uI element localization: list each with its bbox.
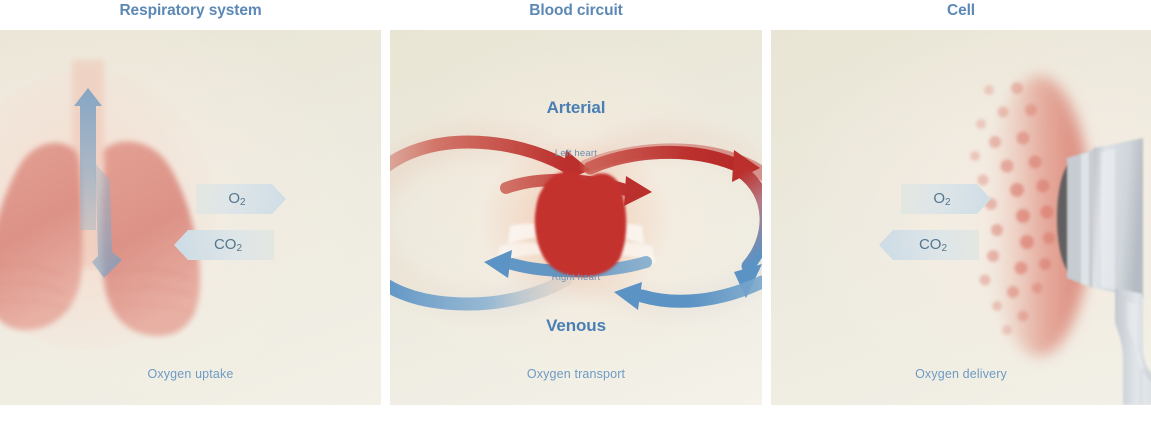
- header-respiratory-system: Respiratory system: [0, 0, 381, 30]
- gas-chip-co2-delivery: CO2: [879, 230, 979, 260]
- oxygen-pathway-diagram: Respiratory system Blood circuit Cell: [0, 0, 1151, 427]
- gas-chip-o2-delivery: O2: [901, 184, 991, 214]
- caption-oxygen-uptake: Oxygen uptake: [0, 367, 381, 381]
- panel-blood-circuit: Arterial Venous Left heart Right heart O…: [390, 30, 762, 405]
- caption-oxygen-transport: Oxygen transport: [390, 367, 762, 381]
- caption-oxygen-delivery: Oxygen delivery: [771, 367, 1151, 381]
- label-arterial: Arterial: [390, 98, 762, 118]
- blood-circuit-illustration: [390, 30, 762, 405]
- panel-cell: O2 CO2 Oxygen delivery: [771, 30, 1151, 405]
- label-venous: Venous: [390, 316, 762, 336]
- gas-chip-o2-uptake: O2: [196, 184, 286, 214]
- header-cell: Cell: [771, 0, 1151, 30]
- lungs-illustration: [0, 30, 381, 405]
- label-left-heart: Left heart: [496, 148, 656, 159]
- label-right-heart: Right heart: [496, 272, 656, 283]
- gas-chip-co2-uptake: CO2: [174, 230, 274, 260]
- header-blood-circuit: Blood circuit: [390, 0, 762, 30]
- cell-sensor-illustration: [771, 30, 1151, 405]
- panel-headers: Respiratory system Blood circuit Cell: [0, 0, 1151, 30]
- panel-respiratory-system: O2 CO2 Oxygen uptake: [0, 30, 381, 405]
